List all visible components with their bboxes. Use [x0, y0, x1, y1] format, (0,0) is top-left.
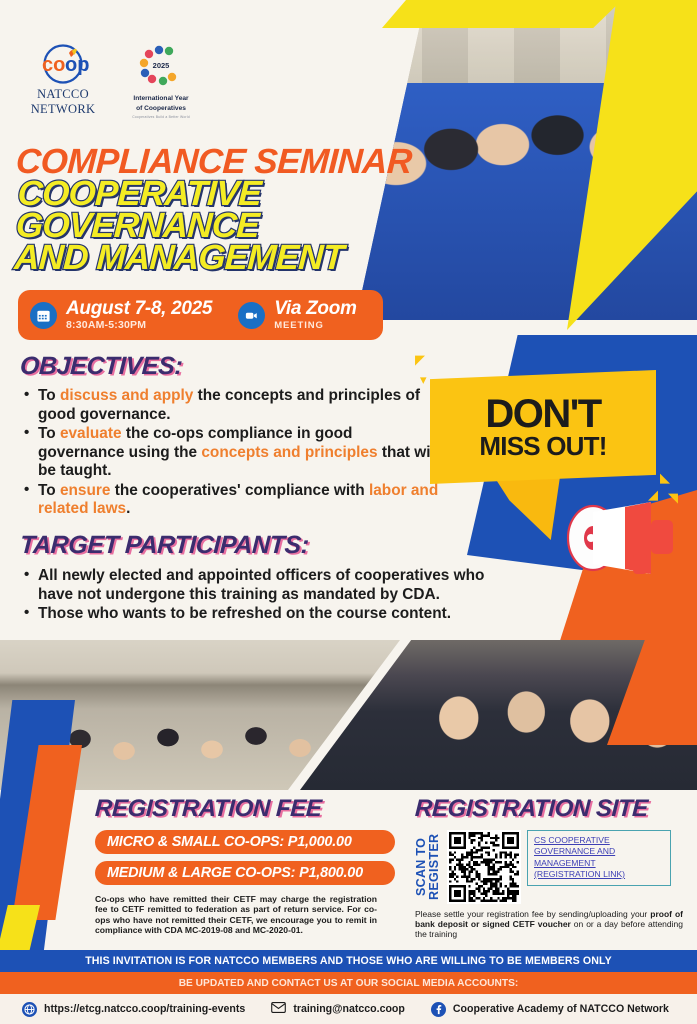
contact-email-text[interactable]: training@natcco.coop: [293, 1003, 405, 1015]
registration-link-line2[interactable]: GOVERNANCE AND: [534, 846, 664, 857]
coop-logo-name-line1: NATCCO: [26, 88, 100, 101]
svg-text:co: co: [42, 54, 65, 76]
objective-highlight: discuss and apply: [60, 387, 193, 404]
footer-members-notice: THIS INVITATION IS FOR NATCCO MEMBERS AN…: [0, 950, 697, 972]
footer-contacts: https://etcg.natcco.coop/training-events…: [0, 994, 697, 1024]
decor-spark-2: ▾: [420, 372, 427, 388]
registration-site-note: Please settle your registration fee by s…: [415, 910, 683, 939]
video-camera-icon: [238, 302, 265, 329]
callout-line1: DON'T: [485, 395, 600, 433]
iyc-logo: 2025 International Year of Cooperatives …: [122, 44, 200, 119]
coop-mark-icon: co op: [26, 44, 100, 86]
objective-text: the cooperatives' compliance with: [110, 482, 369, 499]
scan-to-register-label: SCAN TO REGISTER: [415, 830, 441, 904]
objective-text: To: [38, 482, 60, 499]
svg-text:op: op: [65, 54, 89, 76]
logo-group: co op NATCCO NETWORK: [26, 44, 200, 119]
target-participant-item: Those who wants to be refreshed on the c…: [20, 605, 515, 624]
photo-band: [0, 640, 697, 790]
objective-item: To discuss and apply the concepts and pr…: [20, 387, 440, 424]
contact-email[interactable]: training@natcco.coop: [271, 1002, 405, 1016]
facebook-icon: [431, 1002, 446, 1017]
registration-link-box[interactable]: CS COOPERATIVE GOVERNANCE AND MANAGEMENT…: [527, 830, 671, 886]
qr-code-icon[interactable]: [447, 830, 521, 904]
registration-fee-heading: REGISTRATION FEE: [94, 795, 395, 823]
decor-spark-3: ◣: [660, 470, 670, 486]
objective-item: To ensure the cooperatives' compliance w…: [20, 482, 440, 519]
fee-tier-medium-large: MEDIUM & LARGE CO-OPS: P1,800.00: [95, 861, 395, 885]
target-participants-list: All newly elected and appointed officers…: [20, 567, 515, 625]
objective-highlight: ensure: [60, 482, 110, 499]
decor-yellow-tab: [382, 0, 622, 28]
contact-facebook[interactable]: Cooperative Academy of NATCCO Network: [431, 1002, 669, 1017]
registration-fee-note: Co-ops who have remitted their CETF may …: [95, 894, 377, 936]
event-platform-chip: Via Zoom MEETING: [238, 299, 356, 332]
globe-icon: [22, 1002, 37, 1017]
footer-social-notice: BE UPDATED AND CONTACT US AT OUR SOCIAL …: [0, 972, 697, 994]
iyc-title-line1: International Year: [122, 95, 200, 103]
objective-item: To evaluate the co-ops compliance in goo…: [20, 425, 440, 481]
objective-text: To: [38, 425, 60, 442]
objective-highlight: concepts and principles: [201, 444, 377, 461]
iyc-tagline: Cooperatives Build a Better World: [122, 115, 200, 119]
event-date-text: August 7-8, 2025 8:30AM-5:30PM: [66, 299, 212, 332]
contact-website-text[interactable]: https://etcg.natcco.coop/training-events: [44, 1003, 245, 1015]
registration-note-text: Please settle your registration fee by s…: [415, 909, 650, 919]
objective-text: To: [38, 387, 60, 404]
objectives-list: To discuss and apply the concepts and pr…: [20, 387, 440, 520]
event-details-bar: August 7-8, 2025 8:30AM-5:30PM Via Zoom …: [18, 290, 383, 340]
registration-link-line4[interactable]: (REGISTRATION LINK): [534, 869, 664, 880]
event-time: 8:30AM-5:30PM: [66, 319, 212, 332]
poster-canvas: co op NATCCO NETWORK: [0, 0, 697, 1024]
svg-text:2025: 2025: [153, 61, 170, 70]
event-platform-sub: MEETING: [274, 319, 356, 332]
registration-link-line3[interactable]: MANAGEMENT: [534, 858, 664, 869]
callout-line2: MISS OUT!: [479, 433, 606, 459]
coop-natcco-logo: co op NATCCO NETWORK: [26, 44, 100, 115]
fee-tier-micro-small: MICRO & SMALL CO-OPS: P1,000.00: [95, 830, 395, 854]
dont-miss-out-callout: DON'T MISS OUT!: [430, 370, 656, 484]
objective-text: .: [126, 500, 130, 517]
registration-link-line1[interactable]: CS COOPERATIVE: [534, 835, 664, 846]
registration-site-body: SCAN TO REGISTER CS COOPERATIVE GOVERNAN…: [415, 830, 687, 904]
objectives-heading: OBJECTIVES:: [19, 352, 183, 381]
contact-facebook-text[interactable]: Cooperative Academy of NATCCO Network: [453, 1003, 669, 1015]
main-title: COOPERATIVE GOVERNANCE AND MANAGEMENT: [13, 178, 418, 274]
megaphone-icon: [565, 498, 685, 578]
calendar-icon: [30, 302, 57, 329]
objective-highlight: evaluate: [60, 425, 122, 442]
coop-logo-name-line2: NETWORK: [26, 103, 100, 116]
iyc-mark-icon: 2025: [122, 44, 200, 93]
decor-spark-1: ◤: [415, 352, 425, 368]
iyc-title-line2: of Cooperatives: [122, 105, 200, 113]
contact-website[interactable]: https://etcg.natcco.coop/training-events: [22, 1002, 245, 1017]
event-platform: Via Zoom: [274, 298, 356, 319]
event-date-chip: August 7-8, 2025 8:30AM-5:30PM: [30, 299, 212, 332]
event-date: August 7-8, 2025: [66, 298, 212, 319]
registration-fee-section: REGISTRATION FEE MICRO & SMALL CO-OPS: P…: [95, 795, 395, 936]
event-platform-text: Via Zoom MEETING: [274, 299, 356, 332]
main-title-line3: AND MANAGEMENT: [13, 242, 415, 274]
registration-site-heading: REGISTRATION SITE: [414, 795, 687, 823]
envelope-icon: [271, 1002, 286, 1016]
target-participants-heading: TARGET PARTICIPANTS:: [19, 531, 309, 560]
target-participant-item: All newly elected and appointed officers…: [20, 567, 515, 604]
registration-site-section: REGISTRATION SITE SCAN TO REGISTER CS CO…: [415, 795, 687, 939]
